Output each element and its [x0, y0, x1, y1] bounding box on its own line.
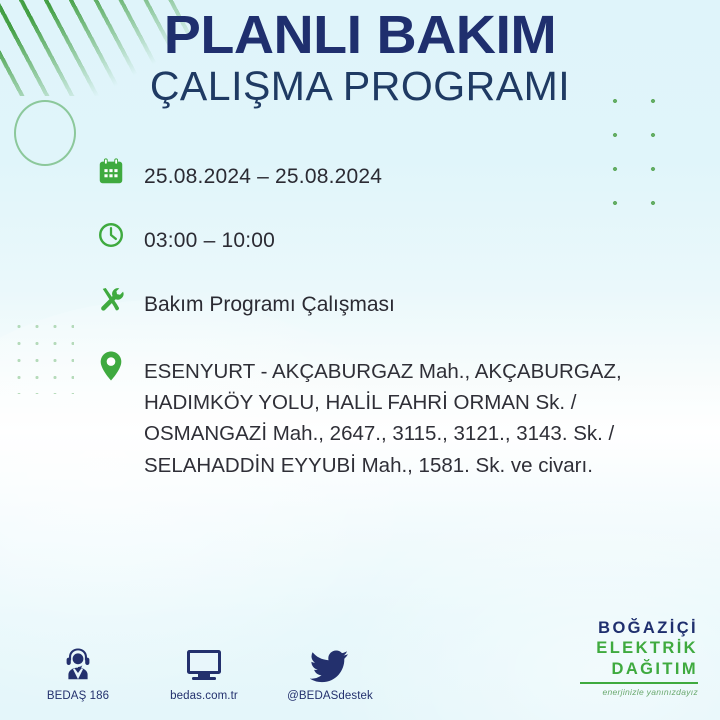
maintenance-details: 25.08.2024 – 25.08.2024 03:00 – 10:00 — [0, 160, 720, 481]
poster-header: PLANLI BAKIM ÇALIŞMA PROGRAMI — [0, 0, 720, 108]
brand-tagline: enerjinizle yanınızdayız — [580, 688, 698, 697]
contact-website-label: bedas.com.tr — [160, 690, 248, 702]
contact-phone-label: BEDAŞ 186 — [34, 690, 122, 702]
contact-twitter-label: @BEDASdestek — [286, 690, 374, 702]
address-line: SELAHADDİN EYYUBİ Mah., 1581. Sk. ve civ… — [144, 450, 622, 481]
call-center-agent-icon — [34, 641, 122, 683]
detail-row-address: ESENYURT - AKÇABURGAZ Mah., AKÇABURGAZ, … — [96, 354, 720, 481]
time-range-value: 03:00 – 10:00 — [144, 224, 275, 256]
contact-website[interactable]: bedas.com.tr — [160, 641, 248, 702]
bedas-logo: BOĞAZİÇİ ELEKTRİK DAĞITIM enerjinizle ya… — [580, 620, 698, 697]
clock-icon — [96, 220, 144, 262]
detail-row-date: 25.08.2024 – 25.08.2024 — [96, 160, 720, 198]
address-value: ESENYURT - AKÇABURGAZ Mah., AKÇABURGAZ, … — [144, 354, 622, 481]
monitor-icon — [160, 641, 248, 683]
tools-icon — [96, 284, 144, 326]
date-range-value: 25.08.2024 – 25.08.2024 — [144, 160, 382, 192]
page-subtitle: ÇALIŞMA PROGRAMI — [0, 65, 720, 108]
address-line: HADIMKÖY YOLU, HALİL FAHRİ ORMAN Sk. / — [144, 387, 622, 418]
calendar-icon — [96, 156, 144, 198]
detail-row-time: 03:00 – 10:00 — [96, 224, 720, 262]
contact-phone[interactable]: BEDAŞ 186 — [34, 641, 122, 702]
contact-channels: BEDAŞ 186 bedas.com.tr — [34, 641, 374, 702]
brand-line-dagitim: DAĞITIM — [580, 661, 698, 678]
address-line: OSMANGAZİ Mah., 2647., 3115., 3121., 314… — [144, 418, 622, 449]
detail-row-work-type: Bakım Programı Çalışması — [96, 288, 720, 326]
brand-line-elektrik: ELEKTRİK — [580, 640, 698, 657]
brand-line-bogazici: BOĞAZİÇİ — [580, 620, 698, 637]
address-line: ESENYURT - AKÇABURGAZ Mah., AKÇABURGAZ, — [144, 356, 622, 387]
work-type-value: Bakım Programı Çalışması — [144, 288, 395, 320]
twitter-bird-icon — [286, 641, 374, 683]
brand-divider — [580, 682, 698, 684]
location-pin-icon — [96, 350, 144, 392]
circle-outline-decoration — [14, 100, 76, 166]
page-title: PLANLI BAKIM — [0, 8, 720, 63]
poster-footer: BEDAŞ 186 bedas.com.tr — [0, 618, 720, 702]
contact-twitter[interactable]: @BEDASdestek — [286, 641, 374, 702]
planned-maintenance-poster: PLANLI BAKIM ÇALIŞMA PROGRAMI — [0, 0, 720, 720]
